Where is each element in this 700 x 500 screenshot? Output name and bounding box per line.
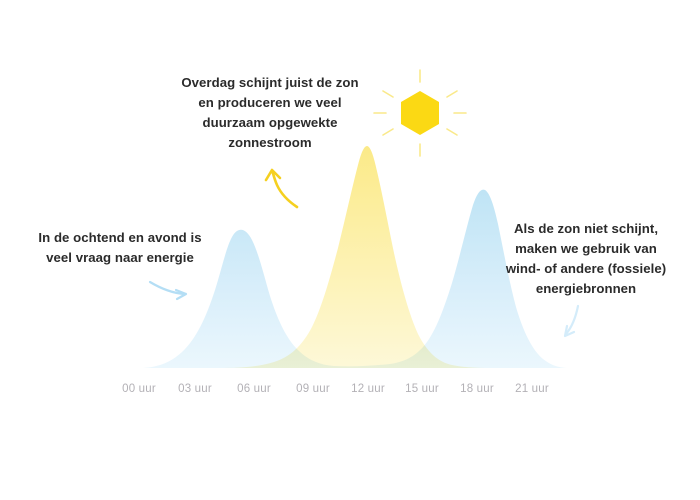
sun-hexagon-icon [374, 70, 466, 156]
x-tick-label-15: 15 uur [394, 383, 450, 395]
annotation-daytime-line-2: en produceren we veel [170, 93, 370, 113]
annotation-morning-evening: In de ochtend en avond is veel vraag naa… [18, 228, 222, 268]
x-tick-label-09: 09 uur [285, 383, 341, 395]
annotation-daytime-line-3: duurzaam opgewekte [170, 113, 370, 133]
annotation-no-sun: Als de zon niet schijnt, maken we gebrui… [490, 219, 682, 299]
annotation-no-sun-line-3: wind- of andere (fossiele) [490, 259, 682, 279]
x-tick-label-06: 06 uur [226, 383, 282, 395]
energy-infographic: Overdag schijnt juist de zon en producer… [0, 0, 700, 500]
x-tick-label-03: 03 uur [167, 383, 223, 395]
x-tick-label-12: 12 uur [340, 383, 396, 395]
x-tick-label-00: 00 uur [111, 383, 167, 395]
curved-arrow-down-icon [565, 306, 578, 336]
annotation-no-sun-line-1: Als de zon niet schijnt, [490, 219, 682, 239]
annotation-morning-line-1: In de ochtend en avond is [18, 228, 222, 248]
annotation-no-sun-line-2: maken we gebruik van [490, 239, 682, 259]
curved-arrow-up-icon [266, 170, 297, 207]
curved-arrow-right-icon [150, 282, 186, 299]
x-tick-label-18: 18 uur [449, 383, 505, 395]
annotation-daytime-line-4: zonnestroom [170, 133, 370, 153]
annotation-no-sun-line-4: energiebronnen [490, 279, 682, 299]
annotation-daytime: Overdag schijnt juist de zon en producer… [170, 73, 370, 153]
x-tick-label-21: 21 uur [504, 383, 560, 395]
annotation-morning-line-2: veel vraag naar energie [18, 248, 222, 268]
annotation-daytime-line-1: Overdag schijnt juist de zon [170, 73, 370, 93]
